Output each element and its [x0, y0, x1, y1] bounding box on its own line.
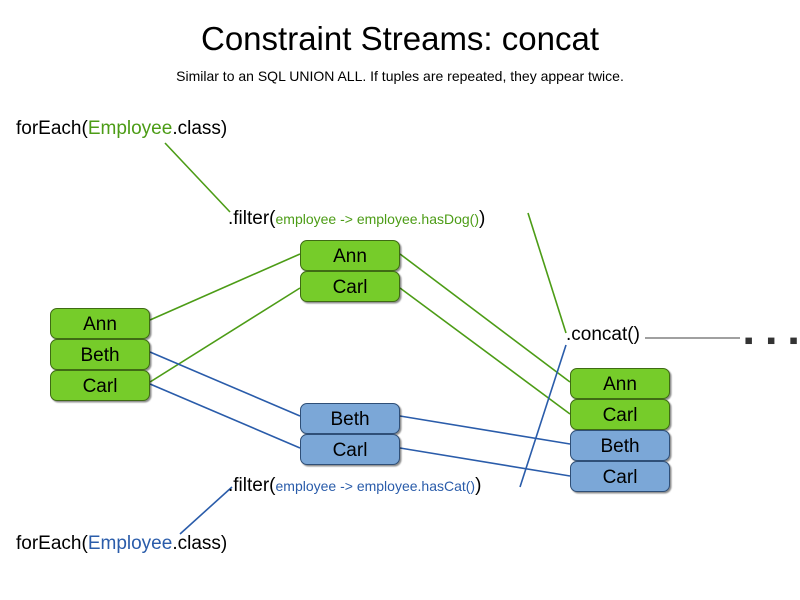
ann-to-dog-ann: [150, 254, 300, 320]
filter-cat-lambda: employee -> employee.hasCat(): [276, 478, 476, 494]
node-concat-result-carl[interactable]: Carl: [570, 399, 670, 430]
leader-foreach-top-to-filter-dog: [165, 143, 230, 212]
filter-dog-lambda: employee -> employee.hasDog(): [276, 211, 480, 227]
node-label: Carl: [603, 405, 638, 426]
dog-ann-to-result-ann: [400, 254, 570, 382]
node-label: Carl: [333, 277, 368, 298]
node-label: Carl: [83, 376, 118, 397]
node-cat-filtered-beth[interactable]: Beth: [300, 403, 400, 434]
node-label: Carl: [333, 440, 368, 461]
node-dog-filtered-carl[interactable]: Carl: [300, 271, 400, 302]
diagram-canvas: Constraint Streams: concat Similar to an…: [0, 0, 800, 600]
cat-carl-to-result-carl: [400, 448, 570, 476]
node-concat-result-beth[interactable]: Beth: [570, 430, 670, 461]
foreach-top-prefix: forEach(: [16, 118, 88, 139]
continuation-ellipsis: ▪ ▪ ▪: [744, 327, 800, 353]
node-concat-result-ann[interactable]: Ann: [570, 368, 670, 399]
page-title: Constraint Streams: concat: [0, 20, 800, 58]
foreach-bottom-prefix: forEach(: [16, 533, 88, 554]
node-label: Ann: [83, 314, 117, 335]
label-foreach-top: forEach(Employee.class): [16, 118, 227, 140]
leader-foreach-bottom-to-filter-cat: [180, 487, 232, 534]
leader-filter-cat-to-concat: [520, 345, 566, 487]
label-concat: .concat(): [566, 324, 640, 346]
node-label: Beth: [600, 436, 639, 457]
leader-filter-dog-to-concat: [528, 213, 566, 333]
page-subtitle: Similar to an SQL UNION ALL. If tuples a…: [0, 68, 800, 84]
dog-carl-to-result-carl: [400, 288, 570, 414]
filter-cat-suffix: ): [475, 475, 481, 496]
filter-dog-suffix: ): [479, 208, 485, 229]
foreach-bottom-type: Employee: [88, 533, 173, 554]
foreach-bottom-suffix: .class): [172, 533, 227, 554]
connector-layer: [0, 0, 800, 600]
node-label: Ann: [603, 374, 637, 395]
filter-dog-prefix: .filter(: [228, 208, 276, 229]
filter-cat-prefix: .filter(: [228, 475, 276, 496]
label-filter-cat: .filter(employee -> employee.hasCat()): [228, 475, 481, 497]
node-source-employees-ann[interactable]: Ann: [50, 308, 150, 339]
label-foreach-bottom: forEach(Employee.class): [16, 533, 227, 555]
beth-to-cat-beth: [150, 352, 300, 416]
node-source-employees-carl[interactable]: Carl: [50, 370, 150, 401]
node-cat-filtered-carl[interactable]: Carl: [300, 434, 400, 465]
node-dog-filtered-ann[interactable]: Ann: [300, 240, 400, 271]
node-label: Beth: [330, 409, 369, 430]
node-concat-result-carl[interactable]: Carl: [570, 461, 670, 492]
node-label: Carl: [603, 467, 638, 488]
node-label: Beth: [80, 345, 119, 366]
carl-to-dog-carl: [150, 288, 300, 382]
foreach-top-suffix: .class): [172, 118, 227, 139]
node-label: Ann: [333, 246, 367, 267]
carl-to-cat-carl: [150, 384, 300, 448]
foreach-top-type: Employee: [88, 118, 173, 139]
label-filter-dog: .filter(employee -> employee.hasDog()): [228, 208, 485, 230]
cat-beth-to-result-beth: [400, 416, 570, 444]
node-source-employees-beth[interactable]: Beth: [50, 339, 150, 370]
